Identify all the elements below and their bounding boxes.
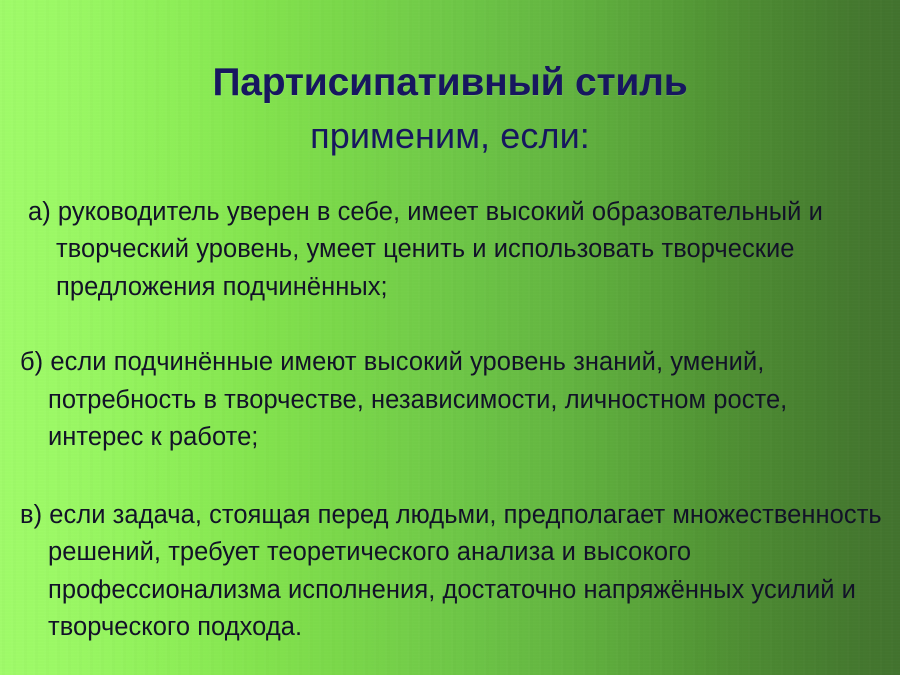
list-item-spacer — [51, 198, 58, 226]
list-item-marker-b: б) — [20, 348, 43, 376]
list-item-text-c: если задача, стоящая перед людьми, предп… — [48, 501, 882, 642]
presentation-slide: Партисипативный стиль применим, если: а)… — [0, 0, 900, 675]
list-item-marker-c: в) — [20, 501, 42, 529]
list-item-text-a: руководитель уверен в себе, имеет высоки… — [56, 198, 823, 301]
list-item: б) если подчинённые имеют высокий уровен… — [10, 344, 886, 457]
list-item: в) если задача, стоящая перед людьми, пр… — [10, 497, 890, 647]
list-item-text-b: если подчинённые имеют высокий уровень з… — [48, 348, 787, 451]
slide-title-line-1: Партисипативный стиль — [0, 58, 900, 108]
slide-title-line-2: применим, если: — [0, 108, 900, 164]
slide-content: Партисипативный стиль применим, если: а)… — [0, 0, 900, 675]
list-item: а) руководитель уверен в себе, имеет выс… — [18, 194, 858, 307]
slide-body: а) руководитель уверен в себе, имеет выс… — [0, 168, 900, 672]
list-item-marker-a: а) — [28, 198, 51, 226]
slide-title: Партисипативный стиль применим, если: — [0, 58, 900, 164]
